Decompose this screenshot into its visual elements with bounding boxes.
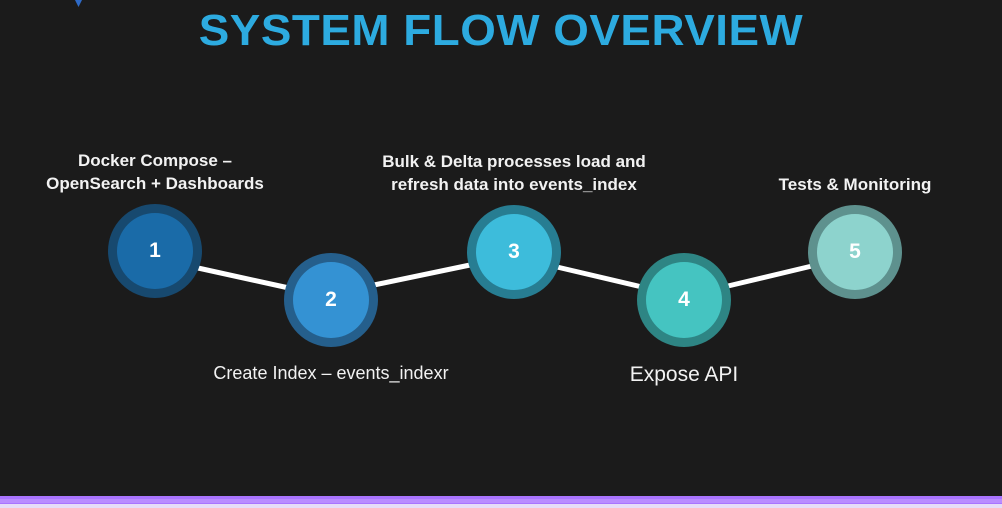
flow-node-5-caption: Tests & Monitoring xyxy=(685,174,1002,197)
flow-node-4[interactable]: 4 xyxy=(637,253,731,347)
band-lowlight xyxy=(0,504,1002,508)
flow-node-5[interactable]: 5 xyxy=(808,205,902,299)
bottom-accent-band xyxy=(0,496,1002,508)
slide-canvas: SYSTEM FLOW OVERVIEW 12345 Docker Compos… xyxy=(0,0,1002,508)
system-flow-diagram: 12345 Docker Compose – OpenSearch + Dash… xyxy=(0,0,1002,508)
flow-node-1-caption: Docker Compose – OpenSearch + Dashboards xyxy=(0,150,325,196)
connector-1-to-2 xyxy=(198,268,289,288)
connector-2-to-3 xyxy=(374,265,470,285)
flow-node-3-label: 3 xyxy=(476,214,552,290)
connector-4-to-5 xyxy=(728,266,812,286)
flow-node-3-caption: Bulk & Delta processes load and refresh … xyxy=(344,151,684,197)
flow-node-3[interactable]: 3 xyxy=(467,205,561,299)
flow-node-2-caption: Create Index – events_indexr xyxy=(161,361,501,385)
flow-node-5-label: 5 xyxy=(817,214,893,290)
flow-node-1[interactable]: 1 xyxy=(108,204,202,298)
band-highlight xyxy=(0,499,1002,503)
flow-node-1-label: 1 xyxy=(117,213,193,289)
flow-node-4-label: 4 xyxy=(646,262,722,338)
flow-node-2[interactable]: 2 xyxy=(284,253,378,347)
connector-3-to-4 xyxy=(557,267,642,287)
flow-node-2-label: 2 xyxy=(293,262,369,338)
flow-node-4-caption: Expose API xyxy=(514,361,854,389)
